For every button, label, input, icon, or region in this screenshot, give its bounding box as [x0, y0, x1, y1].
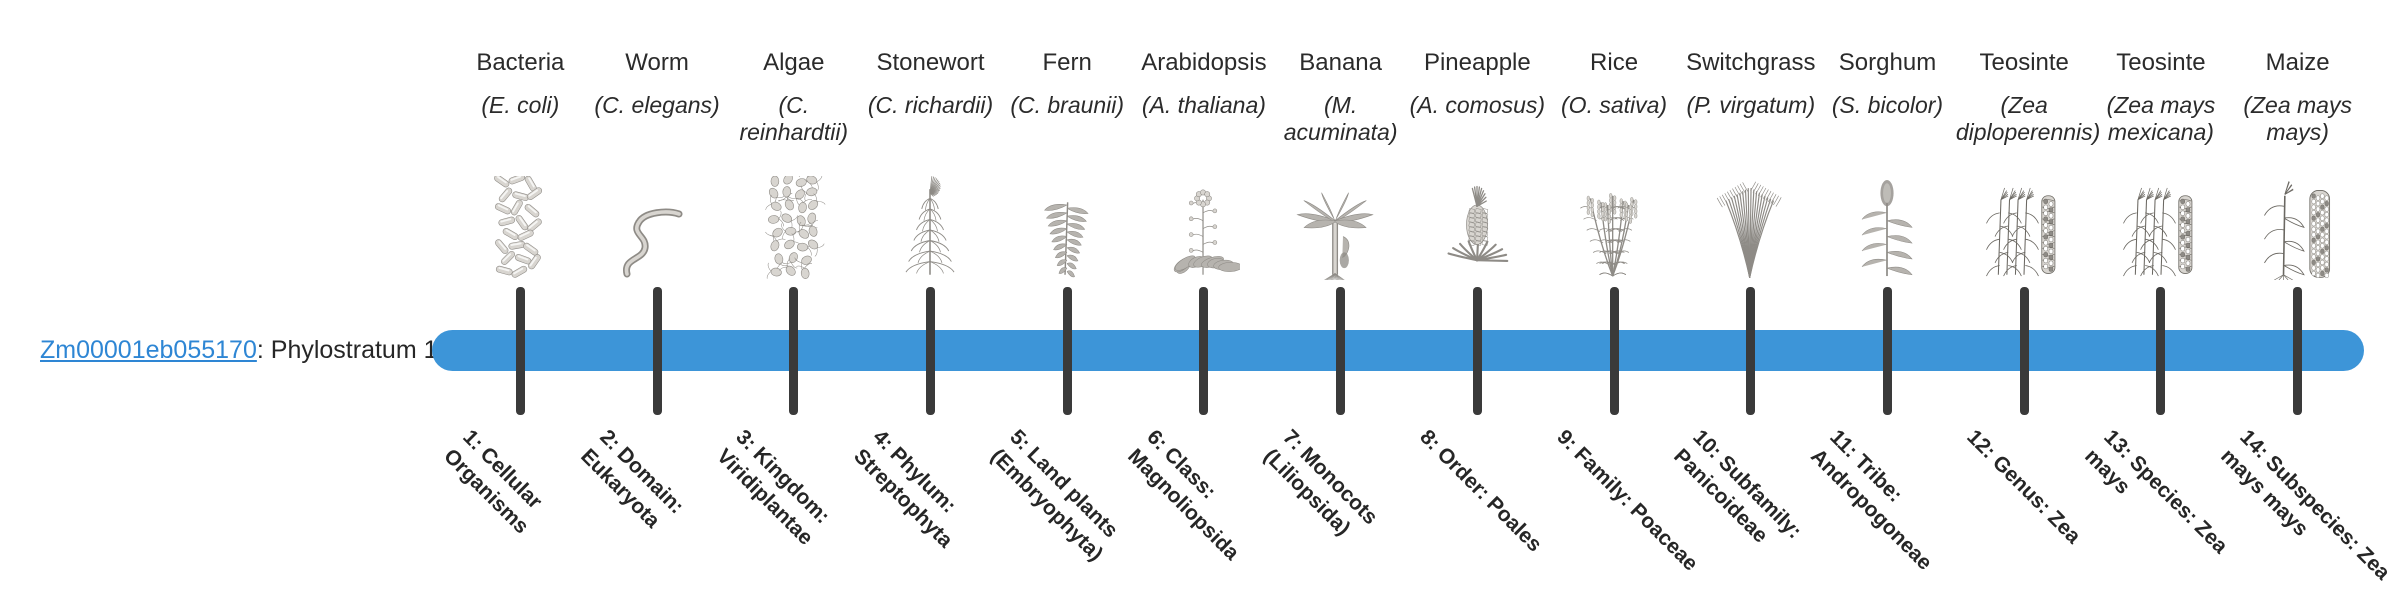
stratum-tick[interactable]	[516, 287, 525, 415]
banana-tree-icon	[1272, 168, 1409, 280]
fern-frond-icon	[999, 168, 1136, 280]
stratum-tick[interactable]	[2156, 287, 2165, 415]
gene-phylostratum-value: Phylostratum 1	[271, 336, 438, 364]
phylostratigraphy-visualization: Zm00001eb055170: Phylostratum 1 Bacteria…	[0, 0, 2400, 580]
species-latin-name: (S. bicolor)	[1819, 92, 1956, 119]
species-latin-name: (A. thaliana)	[1136, 92, 1273, 119]
stratum-tick[interactable]	[1883, 287, 1892, 415]
species-common-name: Worm	[589, 48, 726, 77]
stratum-tick[interactable]	[1063, 287, 1072, 415]
species-common-name: Bacteria	[452, 48, 589, 77]
species-common-name: Pineapple	[1409, 48, 1546, 77]
nematode-worm-icon	[589, 168, 726, 280]
species-common-name: Stonewort	[862, 48, 999, 77]
teosinte-plant-ear-icon	[1956, 168, 2093, 280]
species-latin-name: (M. acuminata)	[1272, 92, 1409, 146]
stratum-tick[interactable]	[789, 287, 798, 415]
species-latin-name: (E. coli)	[452, 92, 589, 119]
stratum-tick-marks	[452, 287, 2366, 417]
gene-id-link[interactable]: Zm00001eb055170	[40, 336, 257, 364]
gene-label-separator: :	[257, 336, 271, 364]
species-latin-name: (A. comosus)	[1409, 92, 1546, 119]
species-common-name: Rice	[1546, 48, 1683, 77]
species-latin-name: (Zea mays mexicana)	[2093, 92, 2230, 146]
teosinte-plant-ear-icon	[2093, 168, 2230, 280]
species-common-name: Maize	[2229, 48, 2366, 77]
stratum-tick[interactable]	[1336, 287, 1345, 415]
rice-plant-icon	[1546, 168, 1683, 280]
algae-cells-icon	[725, 168, 862, 280]
switchgrass-clump-icon	[1682, 168, 1819, 280]
species-common-name: Teosinte	[2093, 48, 2230, 77]
stratum-tick[interactable]	[1610, 287, 1619, 415]
species-common-name: Teosinte	[1956, 48, 2093, 77]
species-latin-name: (C. reinhardtii)	[725, 92, 862, 146]
pineapple-plant-icon	[1409, 168, 1546, 280]
stonewort-plant-icon	[862, 168, 999, 280]
arabidopsis-rosette-icon	[1136, 168, 1273, 280]
species-latin-name: (Zea mays mays)	[2229, 92, 2366, 146]
species-common-name: Arabidopsis	[1136, 48, 1273, 77]
stratum-tick[interactable]	[1473, 287, 1482, 415]
maize-plant-cob-icon	[2229, 168, 2366, 280]
species-common-name: Switchgrass	[1682, 48, 1819, 77]
stratum-tick[interactable]	[1199, 287, 1208, 415]
species-latin-name: (C. braunii)	[999, 92, 1136, 119]
species-latin-name: (C. elegans)	[589, 92, 726, 119]
species-common-name: Fern	[999, 48, 1136, 77]
gene-phylostratum-label: Zm00001eb055170: Phylostratum 1	[40, 335, 420, 365]
stratum-tick[interactable]	[653, 287, 662, 415]
species-latin-name: (Zea diploperennis)	[1956, 92, 2093, 146]
species-common-name: Algae	[725, 48, 862, 77]
species-latin-name: (O. sativa)	[1546, 92, 1683, 119]
species-latin-name: (P. virgatum)	[1682, 92, 1819, 119]
stratum-tick[interactable]	[1746, 287, 1755, 415]
stratum-labels: 1: Cellular Organisms2: Domain: Eukaryot…	[452, 418, 2366, 580]
stratum-tick[interactable]	[2293, 287, 2302, 415]
species-common-name: Banana	[1272, 48, 1409, 77]
sorghum-plant-icon	[1819, 168, 1956, 280]
species-latin-name: (C. richardii)	[862, 92, 999, 119]
bacteria-rods-icon	[452, 168, 589, 280]
species-common-name: Sorghum	[1819, 48, 1956, 77]
stratum-tick[interactable]	[926, 287, 935, 415]
stratum-tick[interactable]	[2020, 287, 2029, 415]
